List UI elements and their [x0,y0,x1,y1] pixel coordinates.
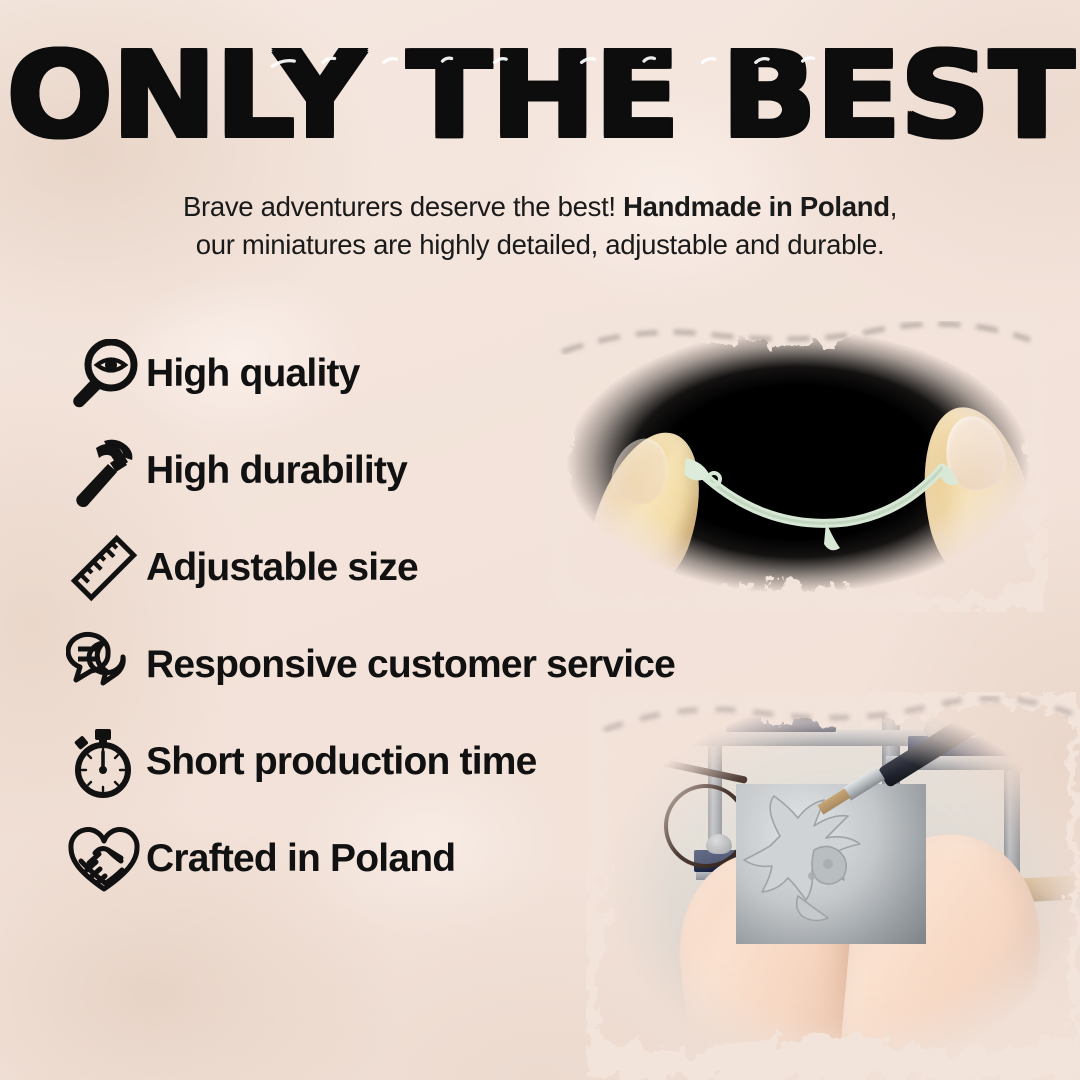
shelf-miniature [998,720,1020,738]
subtitle-comma: , [890,191,897,222]
feature-label: Crafted in Poland [146,839,455,878]
hammer-icon [62,432,146,510]
miniature-flex-part [668,442,968,552]
workshop-scene [586,692,1080,1080]
page-title: ONLY THE BEST [0,36,1080,154]
stopwatch-icon [62,723,146,801]
poster-canvas: ONLY THE BEST Brave adventurers deserve … [0,0,1080,1080]
photo-flex-demo [548,312,1048,612]
speech-bubbles-icon [62,626,146,704]
feature-label: Responsive customer service [146,645,675,684]
feature-label: High quality [146,354,360,393]
photo-workshop [586,692,1080,1080]
shelf-miniature [774,698,796,718]
subtitle-lead: Brave adventurers deserve the best! [183,191,623,222]
magnifier-eye-icon [62,335,146,413]
ruler-icon [62,529,146,607]
subtitle-emphasis: Handmade in Poland [623,191,890,222]
shelf-miniature [746,700,766,718]
subtitle: Brave adventurers deserve the best! Hand… [90,188,990,264]
subtitle-line-2: our miniatures are highly detailed, adju… [196,229,885,260]
feature-label: High durability [146,451,407,490]
photo-flex-backdrop [548,312,1048,612]
feature-label: Adjustable size [146,548,418,587]
handshake-heart-icon [62,820,146,898]
feature-label: Short production time [146,742,537,781]
